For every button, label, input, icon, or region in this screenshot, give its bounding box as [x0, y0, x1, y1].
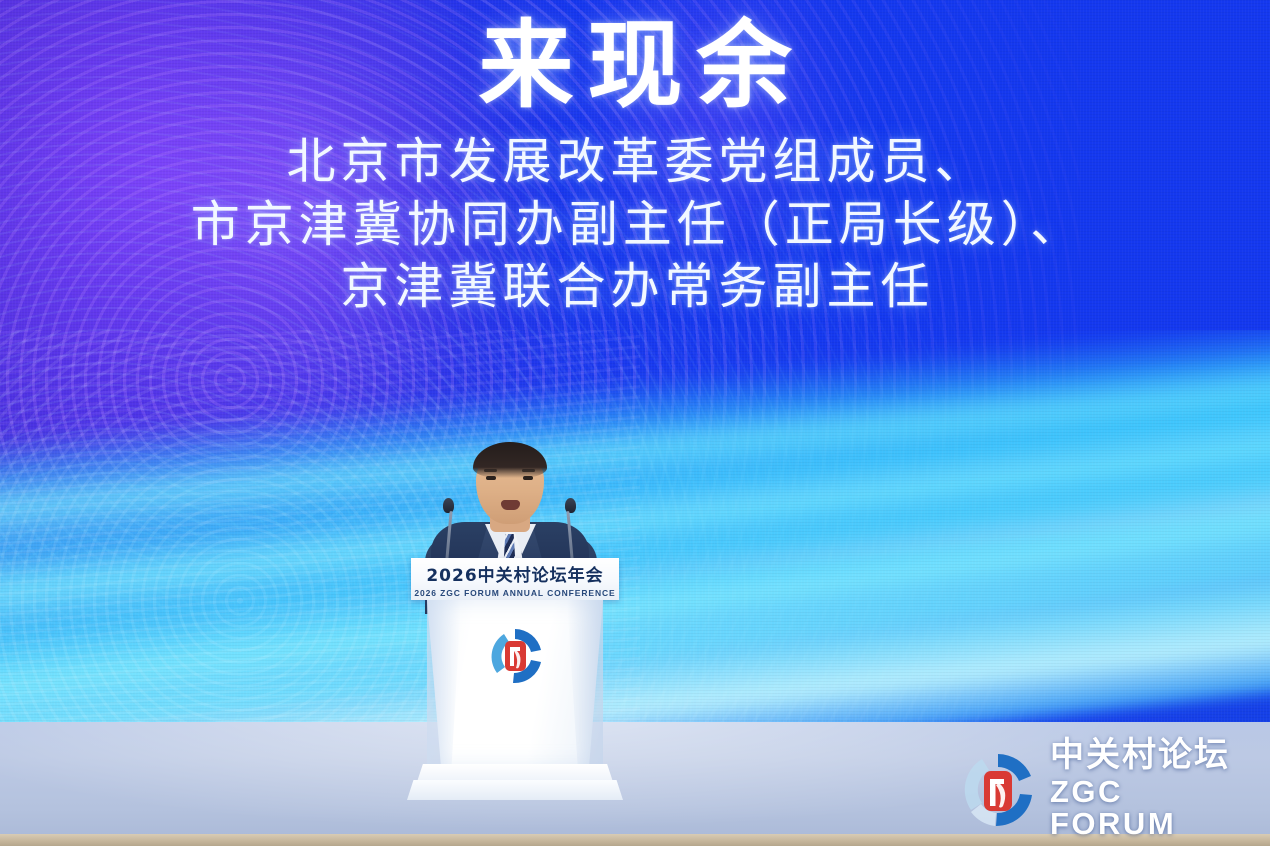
podium-base-upper [417, 764, 613, 782]
podium-nameplate-cn: 2026中关村论坛年会 [426, 561, 603, 586]
corner-logo: 中关村论坛 ZGC FORUM [958, 746, 1254, 834]
corner-logo-text: 中关村论坛 ZGC FORUM [1050, 737, 1254, 843]
microphone-head-icon [443, 498, 454, 513]
speaker-title-block: 北京市发展改革委党组成员、 市京津冀协同办副主任（正局长级）、 京津冀联合办常务… [0, 131, 1270, 319]
speaker-name: 来现余 [0, 18, 1270, 115]
speaker-title-line-1: 北京市发展改革委党组成员、 [0, 131, 1270, 194]
speaker-title-line-3: 京津冀联合办常务副主任 [0, 256, 1270, 319]
conference-stage-photo: 来现余 北京市发展改革委党组成员、 市京津冀协同办副主任（正局长级）、 京津冀联… [0, 0, 1270, 846]
speaker-eye-right [523, 476, 533, 480]
podium-emblem-icon [483, 624, 547, 688]
corner-logo-cn: 中关村论坛 [1050, 737, 1254, 774]
podium-nameplate-en: 2026 ZGC FORUM ANNUAL CONFERENCE [414, 588, 615, 598]
corner-logo-en: ZGC FORUM [1050, 776, 1254, 841]
speaker-title-line-2: 市京津冀协同办副主任（正局长级）、 [0, 194, 1270, 257]
podium-nameplate: 2026中关村论坛年会 2026 ZGC FORUM ANNUAL CONFER… [411, 558, 619, 600]
zgc-forum-logo-mark-icon [958, 750, 1038, 830]
speaker-caption-block: 来现余 北京市发展改革委党组成员、 市京津冀协同办副主任（正局长级）、 京津冀联… [0, 0, 1270, 319]
speaker-eye-left [486, 476, 496, 480]
podium: 2026中关村论坛年会 2026 ZGC FORUM ANNUAL CONFER… [395, 558, 635, 810]
speaker-eyebrow-left [484, 469, 497, 472]
speaker-mouth [501, 500, 520, 510]
speaker-hair [473, 442, 547, 478]
speaker-eyebrow-right [522, 469, 535, 472]
podium-base-lower [407, 780, 623, 800]
